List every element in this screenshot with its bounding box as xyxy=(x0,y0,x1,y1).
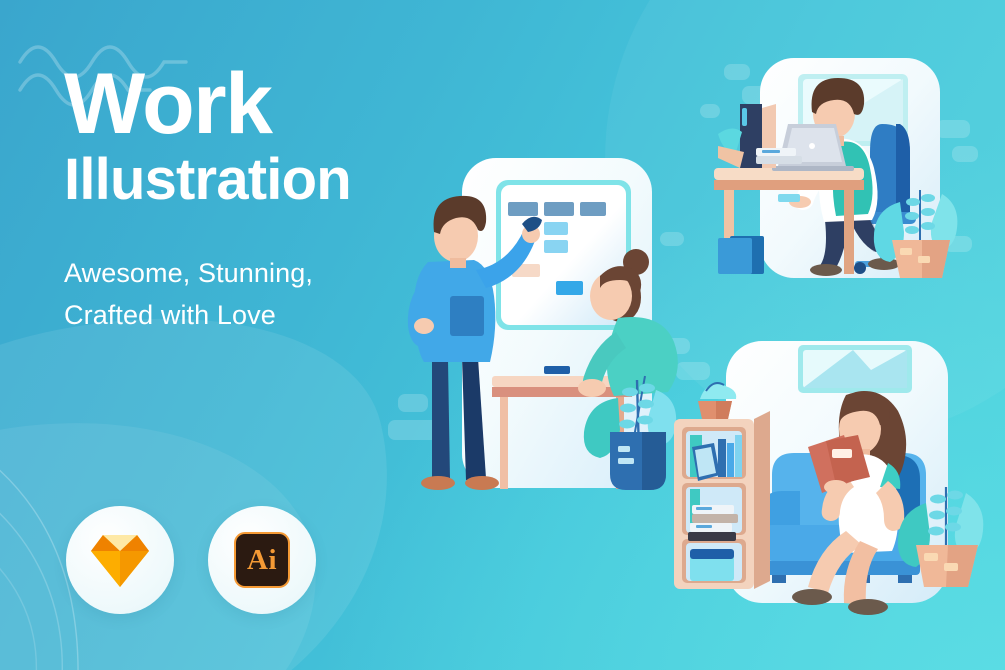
sticky-note xyxy=(544,202,574,216)
book-stacked xyxy=(688,532,736,541)
book-stacked xyxy=(692,514,738,523)
laptop-logo xyxy=(809,143,815,149)
book-spine xyxy=(735,435,742,477)
laptop-base xyxy=(772,166,854,171)
pot-stripe xyxy=(618,446,630,452)
binder-label xyxy=(742,108,747,126)
desk-leg xyxy=(500,397,508,489)
badge-illustrator[interactable]: Ai xyxy=(208,506,316,614)
box-lid xyxy=(690,549,734,559)
pot-stripe xyxy=(900,248,912,255)
book-label xyxy=(762,150,780,153)
book-label xyxy=(696,525,712,528)
person-shoe-back xyxy=(810,264,842,276)
man-shoe-right xyxy=(465,476,499,490)
promo-banner: Work Illustration Awesome, Stunning, Cra… xyxy=(0,0,1005,670)
pot-stripe xyxy=(944,563,958,571)
chair-wheel xyxy=(854,262,866,274)
man-shoe-left xyxy=(421,476,455,490)
book-label xyxy=(832,449,852,458)
pot-stripe xyxy=(618,458,634,464)
woman-shoe-right xyxy=(848,599,888,615)
man-leg-left xyxy=(432,360,450,480)
woman-hand xyxy=(578,379,606,397)
illustration-kanban-collaboration xyxy=(404,150,704,540)
sticky-note xyxy=(544,240,568,253)
man-neck xyxy=(450,258,466,268)
adobe-illustrator-icon: Ai xyxy=(234,532,290,588)
man-hand-left xyxy=(414,318,434,334)
pot-stripe xyxy=(918,256,930,263)
pot-stripe xyxy=(924,553,938,561)
book-spine xyxy=(727,443,734,477)
shelf-side xyxy=(754,411,770,589)
sticky-note xyxy=(544,222,568,235)
illustration-desk-work xyxy=(704,52,994,317)
page-title: Work xyxy=(64,62,464,146)
desk-item xyxy=(544,366,570,374)
book-spine xyxy=(718,439,726,477)
book-label xyxy=(696,507,712,510)
sticky-note xyxy=(556,281,583,295)
sticky-note xyxy=(580,202,606,216)
desk-edge xyxy=(714,180,864,190)
storage-box xyxy=(718,238,752,274)
woman-shoe-left xyxy=(792,589,832,605)
illustration-reading-couch xyxy=(660,335,1005,635)
sketch-diamond-icon xyxy=(90,531,150,589)
sticky-note xyxy=(508,202,538,216)
desk-drawer-handle xyxy=(778,194,800,202)
desk-leg xyxy=(844,190,854,274)
man-sweater-panel xyxy=(450,296,484,336)
woman-hand xyxy=(824,480,848,494)
badge-sketch[interactable] xyxy=(66,506,174,614)
book xyxy=(756,156,802,164)
format-badges: Ai xyxy=(66,506,316,614)
